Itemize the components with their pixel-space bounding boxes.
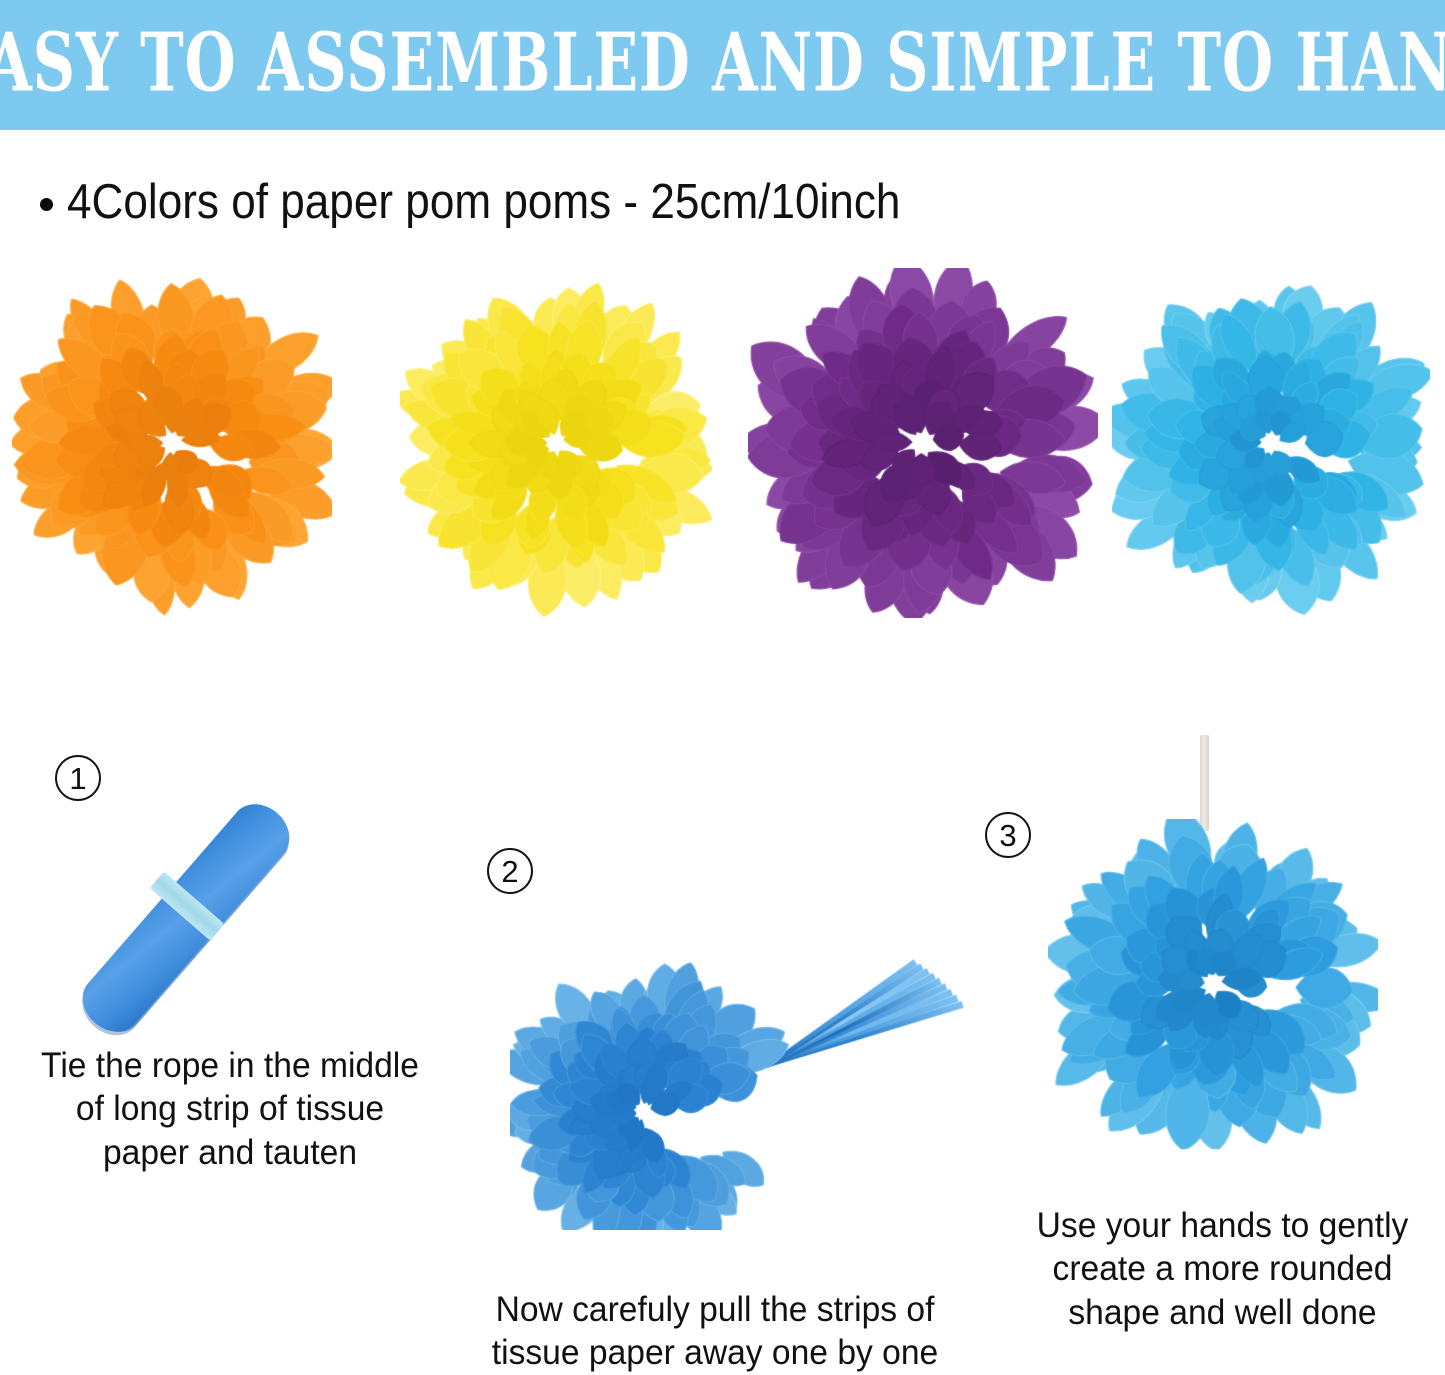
pompom-purple-label: purple pom pom xyxy=(748,618,749,619)
step-2-illustration xyxy=(500,900,970,1270)
pompom-orange-graphic xyxy=(12,268,332,618)
pompom-yellow-label: yellow pom pom xyxy=(400,618,401,619)
step-1-caption: Tie the rope in the middle of long strip… xyxy=(28,1044,431,1174)
banner-title: EASY TO ASSEMBLED AND SIMPLE TO HANG xyxy=(0,22,1445,108)
half-opened-pompom xyxy=(510,960,800,1230)
header-banner: EASY TO ASSEMBLED AND SIMPLE TO HANG xyxy=(0,0,1445,130)
bullet-text: 4Colors of paper pom poms - 25cm/10inch xyxy=(67,176,900,230)
step-1-caption-line-2: of long strip of tissue xyxy=(28,1087,431,1130)
step-3-caption: Use your hands to gently create a more r… xyxy=(1019,1204,1427,1334)
pompom-purple-graphic xyxy=(748,268,1098,618)
pompom-item-yellow: yellow pom pom xyxy=(400,268,712,618)
step-1-illustration xyxy=(95,745,435,1045)
pompom-item-cyan: blue pom pom xyxy=(1112,268,1430,618)
step-3-caption-line-2: create a more rounded xyxy=(1019,1247,1427,1290)
product-bullet: 4Colors of paper pom poms - 25cm/10inch xyxy=(40,176,993,230)
step-1-caption-line-3: paper and tauten xyxy=(28,1131,431,1174)
step-3-illustration xyxy=(1020,735,1420,1165)
step-number-2: 2 xyxy=(487,848,533,894)
pompom-yellow-graphic xyxy=(400,268,712,618)
step-3-caption-line-3: shape and well done xyxy=(1019,1291,1427,1334)
step-2-caption-line-2: tissue paper away one by one xyxy=(465,1331,964,1374)
pompom-cyan-label: blue pom pom xyxy=(1112,618,1113,619)
step-3-caption-line-1: Use your hands to gently xyxy=(1019,1204,1427,1247)
pompom-orange-label: orange pom pom xyxy=(12,618,13,619)
finished-pompom xyxy=(1048,819,1378,1149)
bullet-dot-icon xyxy=(40,198,53,211)
step-1-caption-line-1: Tie the rope in the middle xyxy=(28,1044,431,1087)
step-2-caption-line-1: Now carefuly pull the strips of xyxy=(465,1288,964,1331)
pompom-item-purple: purple pom pom xyxy=(748,268,1098,618)
step-2-caption: Now carefuly pull the strips of tissue p… xyxy=(465,1288,964,1375)
hanging-string xyxy=(1200,735,1209,831)
pompom-cyan-graphic xyxy=(1112,268,1430,618)
pompom-gallery: orange pom pom yellow pom pom purple pom… xyxy=(0,268,1445,628)
pompom-item-orange: orange pom pom xyxy=(12,268,332,618)
